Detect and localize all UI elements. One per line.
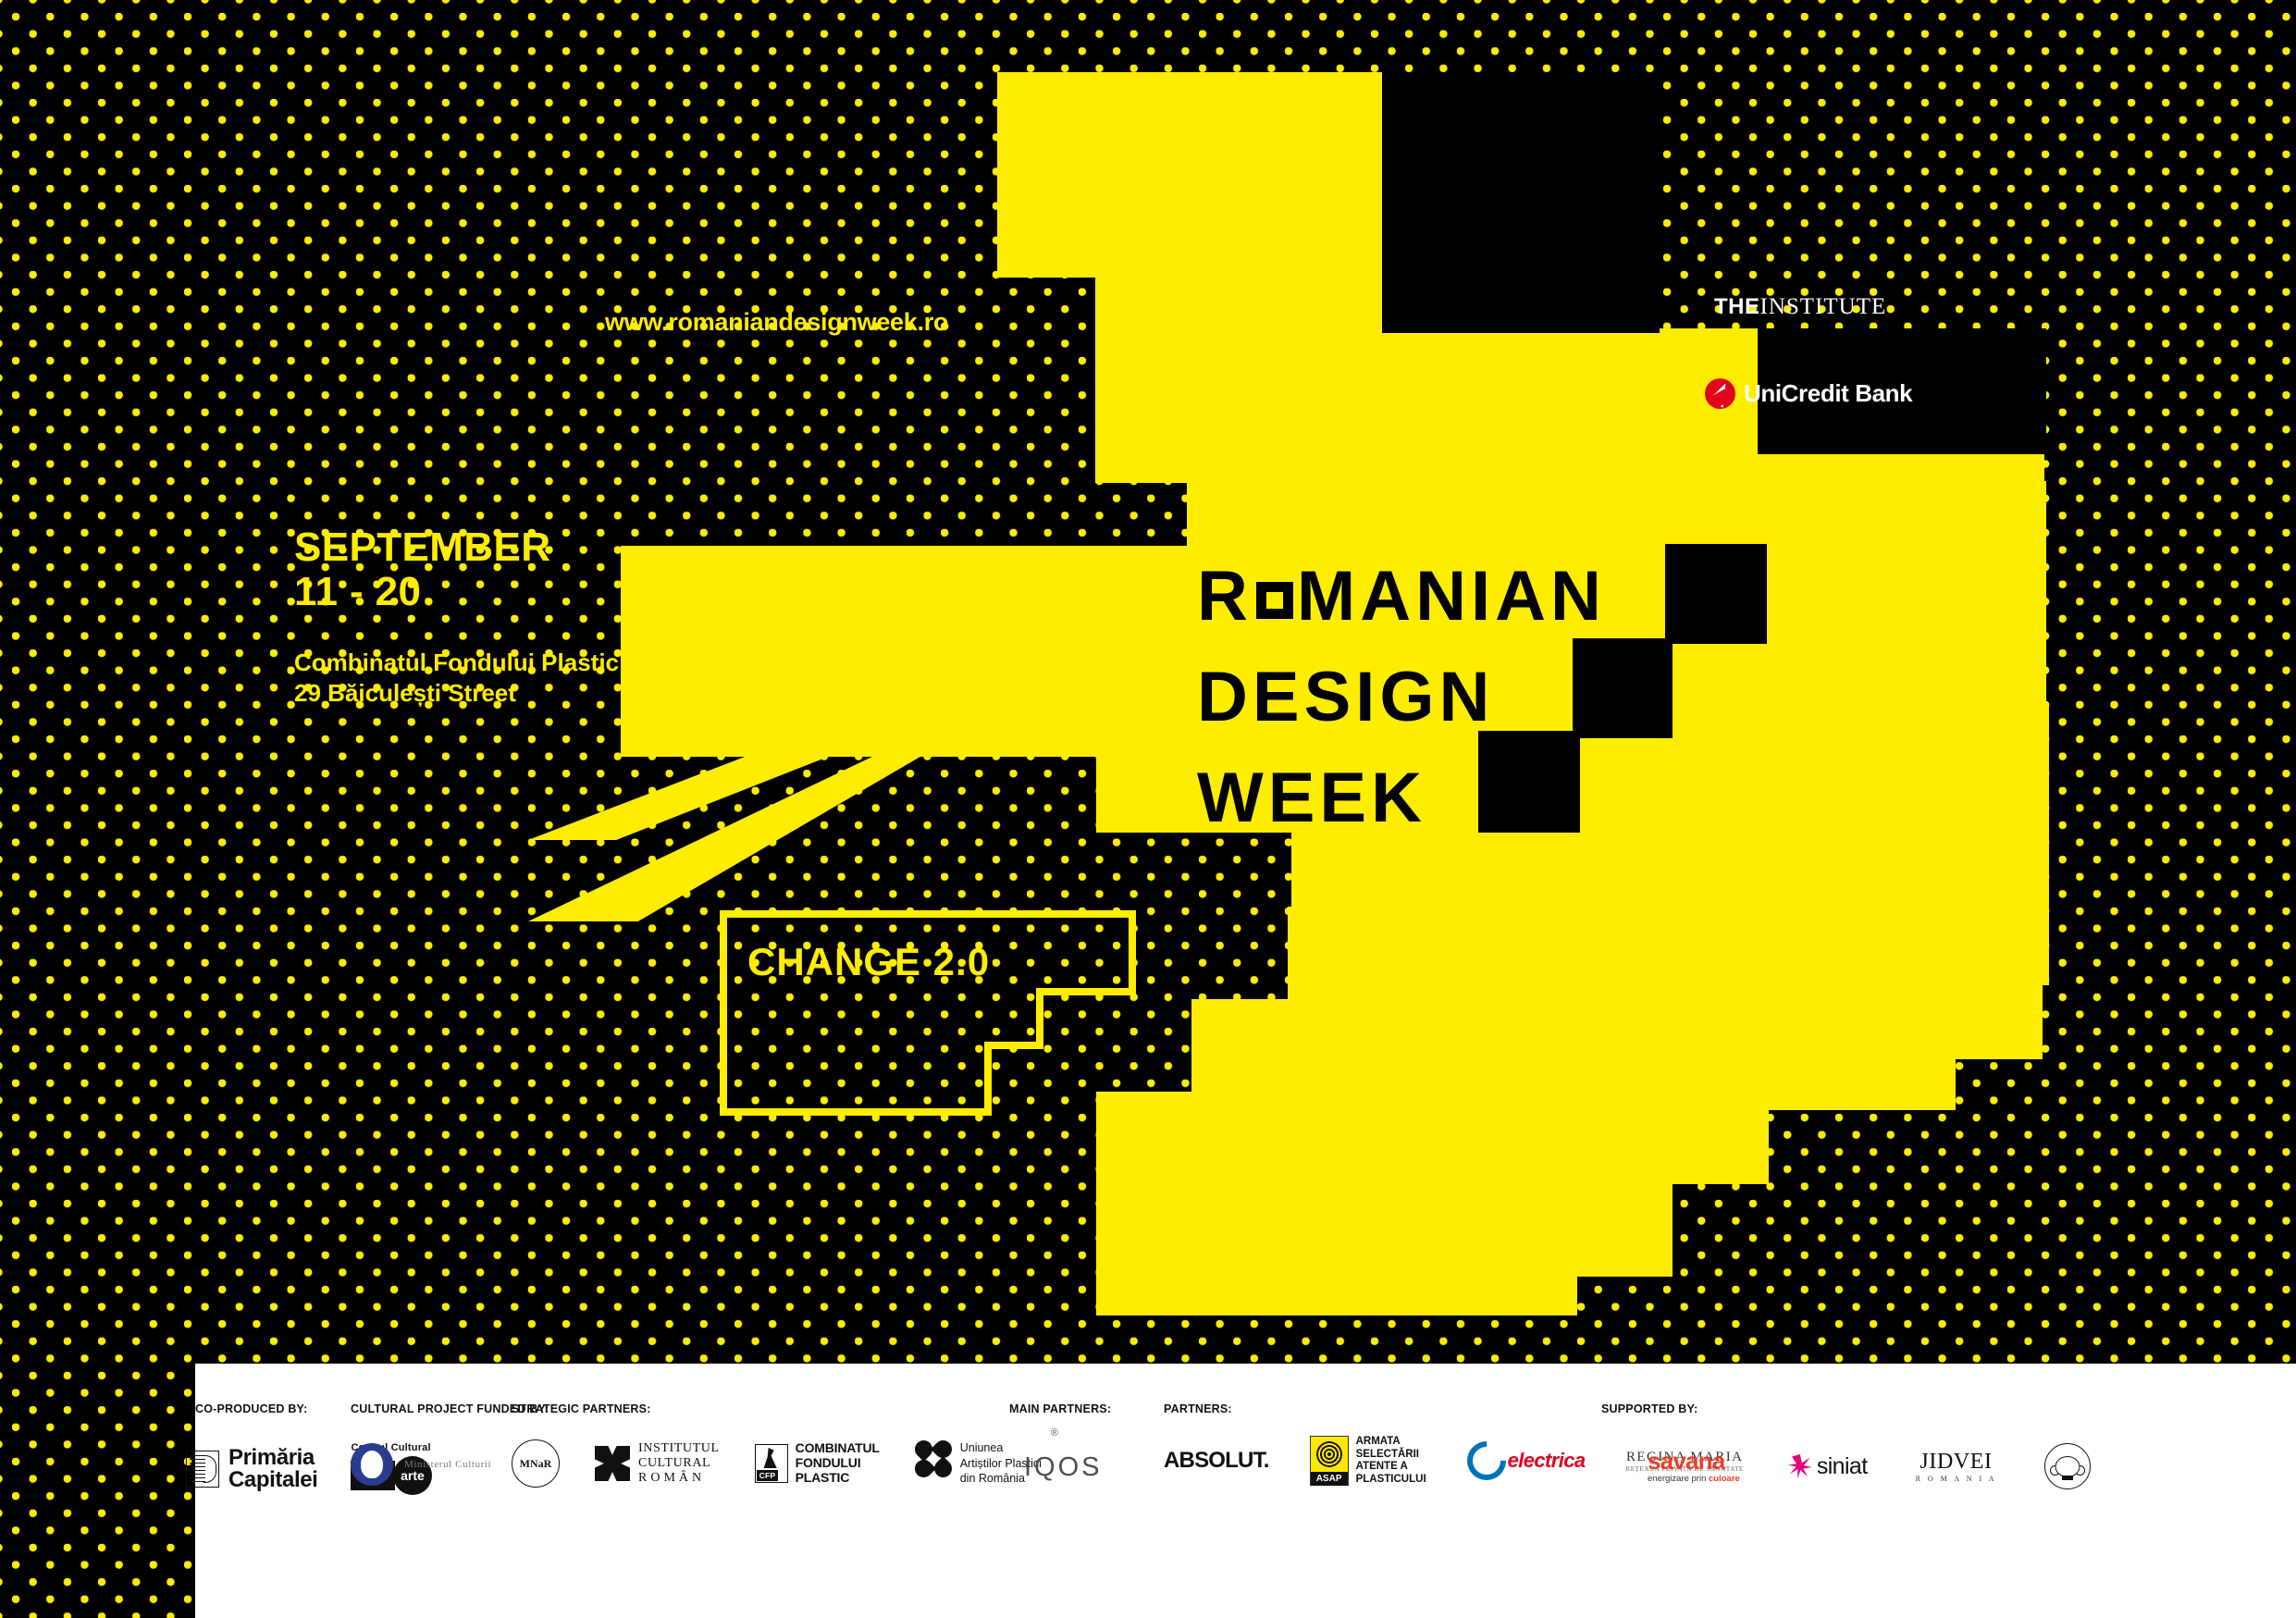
institute-name: INSTITUTE bbox=[1760, 294, 1887, 319]
group-co-produced: CO-PRODUCED BY: bbox=[195, 1402, 308, 1415]
jidvei-label: JIDVEI bbox=[1916, 1450, 1997, 1475]
event-title: RMANIAN DESIGN WEEK bbox=[1197, 562, 1606, 834]
title-line-design: DESIGN bbox=[1197, 662, 1606, 733]
icr-line3: ROMÂN bbox=[638, 1471, 720, 1486]
asap-target-icon: ASAP bbox=[1310, 1436, 1349, 1486]
unicredit-bank-logo[interactable]: UniCredit Bank bbox=[1705, 378, 1912, 409]
date-line-2: 11 - 20 bbox=[294, 570, 550, 614]
logo-institutul-cultural-roman[interactable]: INSTITUTUL CULTURAL ROMÂN bbox=[595, 1441, 720, 1485]
logo-jidvei[interactable]: JIDVEI R O M A N I A bbox=[1916, 1450, 1997, 1483]
label-partners: PARTNERS: bbox=[1164, 1402, 1232, 1415]
ministerul-culturii-label: Ministerul Culturii bbox=[404, 1459, 491, 1470]
logos-strategic-partners: MNaR INSTITUTUL CULTURAL ROMÂN CFP COMBI… bbox=[512, 1439, 1042, 1488]
logo-urban-monkey[interactable] bbox=[2044, 1443, 2091, 1489]
poster-root: www.romaniandesignweek.ro SEPTEMBER 11 -… bbox=[0, 0, 2296, 1618]
logos-cultural-funded: Ministerul Culturii bbox=[351, 1443, 491, 1486]
theme-badge-label: CHANGE 2.0 bbox=[747, 940, 990, 984]
title-manian: MANIAN bbox=[1297, 557, 1606, 636]
label-strategic-partners: STRATEGIC PARTNERS: bbox=[512, 1402, 651, 1415]
logos-supported-by: savana energizare prin culoare siniat JI… bbox=[1648, 1443, 2091, 1489]
monkey-mouth-icon bbox=[2062, 1476, 2073, 1480]
logo-siniat[interactable]: siniat bbox=[1788, 1453, 1868, 1480]
registered-trademark-icon: ® bbox=[1051, 1427, 1058, 1439]
label-main-partners: MAIN PARTNERS: bbox=[1009, 1402, 1111, 1415]
logo-primaria-capitalei[interactable]: Primăria Capitalei bbox=[186, 1447, 317, 1492]
asap-line4: PLASTICULUI bbox=[1356, 1474, 1426, 1487]
logo-electrica[interactable]: electrica bbox=[1467, 1441, 1586, 1480]
group-strategic-partners: STRATEGIC PARTNERS: bbox=[512, 1402, 651, 1415]
event-dates: SEPTEMBER 11 - 20 bbox=[294, 525, 550, 613]
theme-badge-box: CHANGE 2.0 bbox=[720, 910, 1136, 1116]
logos-main-partners: IQOS bbox=[1024, 1452, 1103, 1483]
logo-savana[interactable]: savana energizare prin culoare bbox=[1648, 1449, 1740, 1483]
primaria-line1: Primăria bbox=[228, 1447, 317, 1469]
logo-mnar[interactable]: MNaR bbox=[512, 1439, 560, 1488]
title-r: R bbox=[1197, 557, 1253, 636]
cfp-line1: COMBINATUL bbox=[796, 1441, 880, 1456]
cfp-statue-icon: CFP bbox=[755, 1444, 788, 1483]
icr-line1: INSTITUTUL bbox=[638, 1441, 720, 1456]
primaria-line2: Capitalei bbox=[228, 1469, 317, 1491]
electrica-arc-icon bbox=[1459, 1433, 1513, 1488]
monkey-face-icon bbox=[2055, 1456, 2080, 1477]
group-partners: PARTNERS: bbox=[1164, 1402, 1232, 1415]
asap-line1: ARMATA bbox=[1356, 1436, 1426, 1449]
sponsor-footer: CO-PRODUCED BY: Primăria Capitalei Centr… bbox=[195, 1364, 2296, 1618]
primaria-crest-icon bbox=[186, 1451, 219, 1488]
label-co-produced: CO-PRODUCED BY: bbox=[195, 1402, 308, 1415]
cfp-line3: PLASTIC bbox=[796, 1471, 880, 1486]
electrica-label: electrica bbox=[1508, 1449, 1586, 1473]
asap-line3: ATENTE A bbox=[1356, 1461, 1426, 1474]
venue-address: Combinatul Fondului Plastic 29 Băiculeșt… bbox=[294, 648, 619, 710]
institute-the: THE bbox=[1714, 294, 1760, 319]
logo-ministerul-culturii[interactable]: Ministerul Culturii bbox=[351, 1443, 491, 1486]
cfp-tag: CFP bbox=[757, 1470, 779, 1481]
logo-asap[interactable]: ASAP ARMATA SELECTĂRII ATENTE A PLASTICU… bbox=[1310, 1436, 1426, 1486]
square-o-icon bbox=[1256, 582, 1293, 619]
the-institute-logo[interactable]: THEINSTITUTE bbox=[1714, 294, 1886, 320]
icr-line2: CULTURAL bbox=[638, 1456, 720, 1471]
siniat-star-icon bbox=[1788, 1454, 1812, 1478]
siniat-label: siniat bbox=[1817, 1453, 1868, 1480]
venue-street: 29 Băiculești Street bbox=[294, 678, 619, 709]
group-supported-by: SUPPORTED BY: bbox=[1601, 1402, 1697, 1415]
logo-iqos[interactable]: IQOS bbox=[1024, 1452, 1103, 1483]
logo-combinatul-fondului-plastic[interactable]: CFP COMBINATUL FONDULUI PLASTIC bbox=[755, 1441, 880, 1485]
date-line-1: SEPTEMBER bbox=[294, 525, 550, 570]
group-main-partners: MAIN PARTNERS: bbox=[1009, 1402, 1111, 1415]
title-line-romanian: RMANIAN bbox=[1197, 562, 1606, 632]
icr-cross-icon bbox=[595, 1446, 630, 1481]
cfp-line2: FONDULUI bbox=[796, 1456, 880, 1471]
website-url[interactable]: www.romaniandesignweek.ro bbox=[605, 308, 948, 337]
unicredit-label: UniCredit Bank bbox=[1744, 379, 1912, 408]
uap-clover-icon bbox=[915, 1440, 952, 1477]
savana-label: savana bbox=[1648, 1449, 1740, 1474]
logo-absolut[interactable]: ABSOLUT. bbox=[1164, 1448, 1269, 1474]
asap-tag: ASAP bbox=[1311, 1472, 1348, 1486]
title-line-week: WEEK bbox=[1197, 763, 1606, 834]
label-supported-by: SUPPORTED BY: bbox=[1601, 1402, 1697, 1415]
unicredit-mark-icon bbox=[1705, 378, 1735, 409]
venue-name: Combinatul Fondului Plastic bbox=[294, 648, 619, 678]
asap-line2: SELECTĂRII bbox=[1356, 1449, 1426, 1462]
jidvei-sub: R O M A N I A bbox=[1916, 1475, 1997, 1483]
savana-tagline-a: energizare prin bbox=[1648, 1474, 1709, 1484]
romania-government-seal-icon bbox=[351, 1443, 393, 1486]
logo-uniunea-artistilor-plastici[interactable]: Uniunea Artiștilor Plastici din România … bbox=[915, 1440, 1042, 1487]
savana-tagline-b: culoare bbox=[1709, 1474, 1740, 1484]
